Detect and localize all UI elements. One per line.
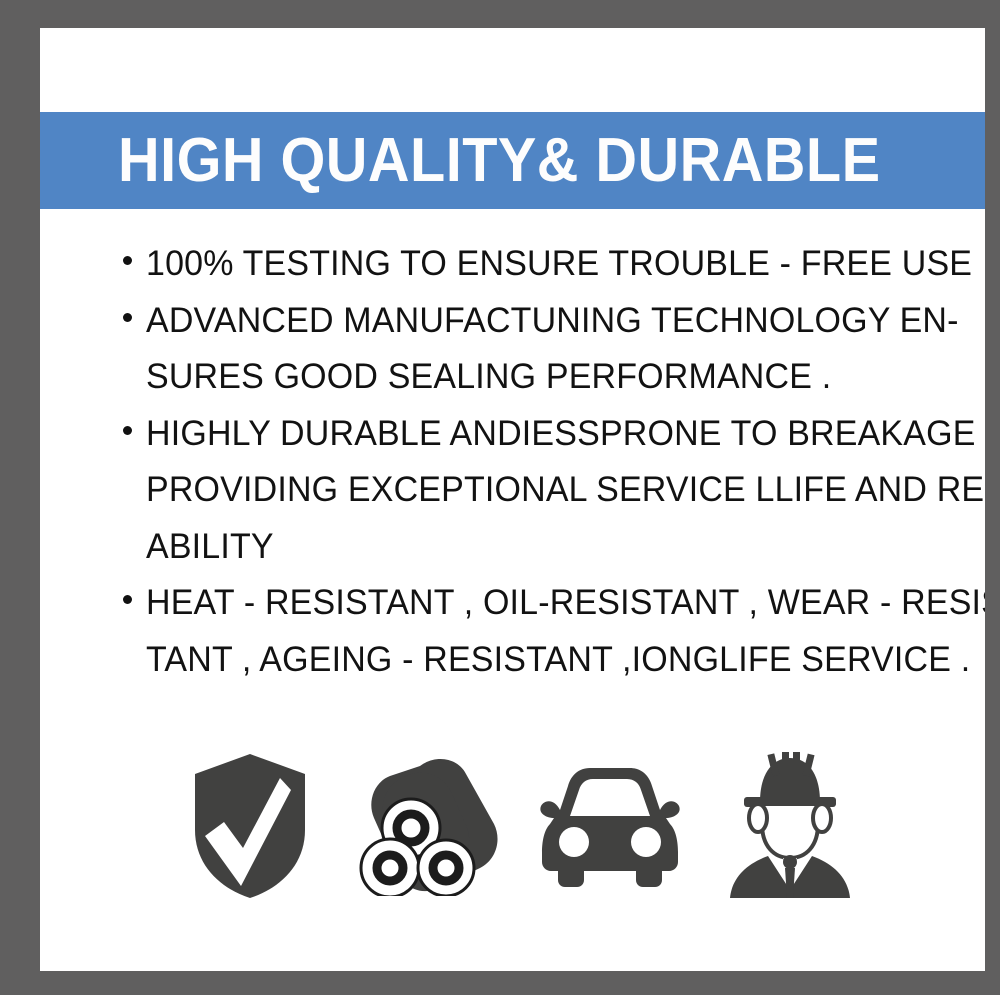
feature-list: 100% TESTING TO ENSURE TROUBLE - FREE US… xyxy=(40,236,985,688)
feature-text: 100% TESTING TO ENSURE TROUBLE - FREE US… xyxy=(123,236,965,293)
header-banner: HIGH QUALITY& DURABLE xyxy=(40,112,985,209)
bullet-dot-icon xyxy=(123,595,132,604)
icon-cell-quality xyxy=(160,746,340,906)
hose-bundle-icon xyxy=(354,756,506,896)
worker-hardhat-icon xyxy=(726,752,854,900)
bullet-dot-icon xyxy=(123,256,132,265)
list-item: HEAT - RESISTANT , OIL-RESISTANT , WEAR … xyxy=(40,575,985,688)
list-item: ADVANCED MANUFACTUNING TECHNOLOGY EN- SU… xyxy=(40,293,985,406)
feature-line: TANT , AGEING - RESISTANT ,IONGLIFE SERV… xyxy=(146,632,940,689)
feature-line: HEAT - RESISTANT , OIL-RESISTANT , WEAR … xyxy=(146,575,940,632)
feature-text: HEAT - RESISTANT , OIL-RESISTANT , WEAR … xyxy=(123,575,965,688)
car-front-icon xyxy=(536,764,684,888)
content-card: HIGH QUALITY& DURABLE 100% TESTING TO EN… xyxy=(40,28,985,971)
bullet-dot-icon xyxy=(123,426,132,435)
feature-line: 100% TESTING TO ENSURE TROUBLE - FREE US… xyxy=(146,236,940,293)
icon-row xyxy=(40,746,985,906)
feature-line: ADVANCED MANUFACTUNING TECHNOLOGY EN- xyxy=(146,293,940,350)
infographic-page: HIGH QUALITY& DURABLE 100% TESTING TO EN… xyxy=(0,0,1000,995)
feature-line: PROVIDING EXCEPTIONAL SERVICE LLIFE AND … xyxy=(146,462,940,519)
list-item: HIGHLY DURABLE ANDIESSPRONE TO BREAKAGE … xyxy=(40,406,985,576)
icon-cell-hoses xyxy=(340,746,520,906)
page-title: HIGH QUALITY& DURABLE xyxy=(118,130,881,192)
icon-cell-automotive xyxy=(520,746,700,906)
shield-check-icon xyxy=(187,752,313,900)
icon-cell-service xyxy=(700,746,880,906)
list-item: 100% TESTING TO ENSURE TROUBLE - FREE US… xyxy=(40,236,985,293)
feature-line: SURES GOOD SEALING PERFORMANCE . xyxy=(146,349,940,406)
feature-line: HIGHLY DURABLE ANDIESSPRONE TO BREAKAGE … xyxy=(146,406,940,463)
feature-text: HIGHLY DURABLE ANDIESSPRONE TO BREAKAGE … xyxy=(123,406,965,576)
feature-text: ADVANCED MANUFACTUNING TECHNOLOGY EN- SU… xyxy=(123,293,965,406)
bullet-dot-icon xyxy=(123,313,132,322)
feature-line: ABILITY xyxy=(146,519,940,576)
